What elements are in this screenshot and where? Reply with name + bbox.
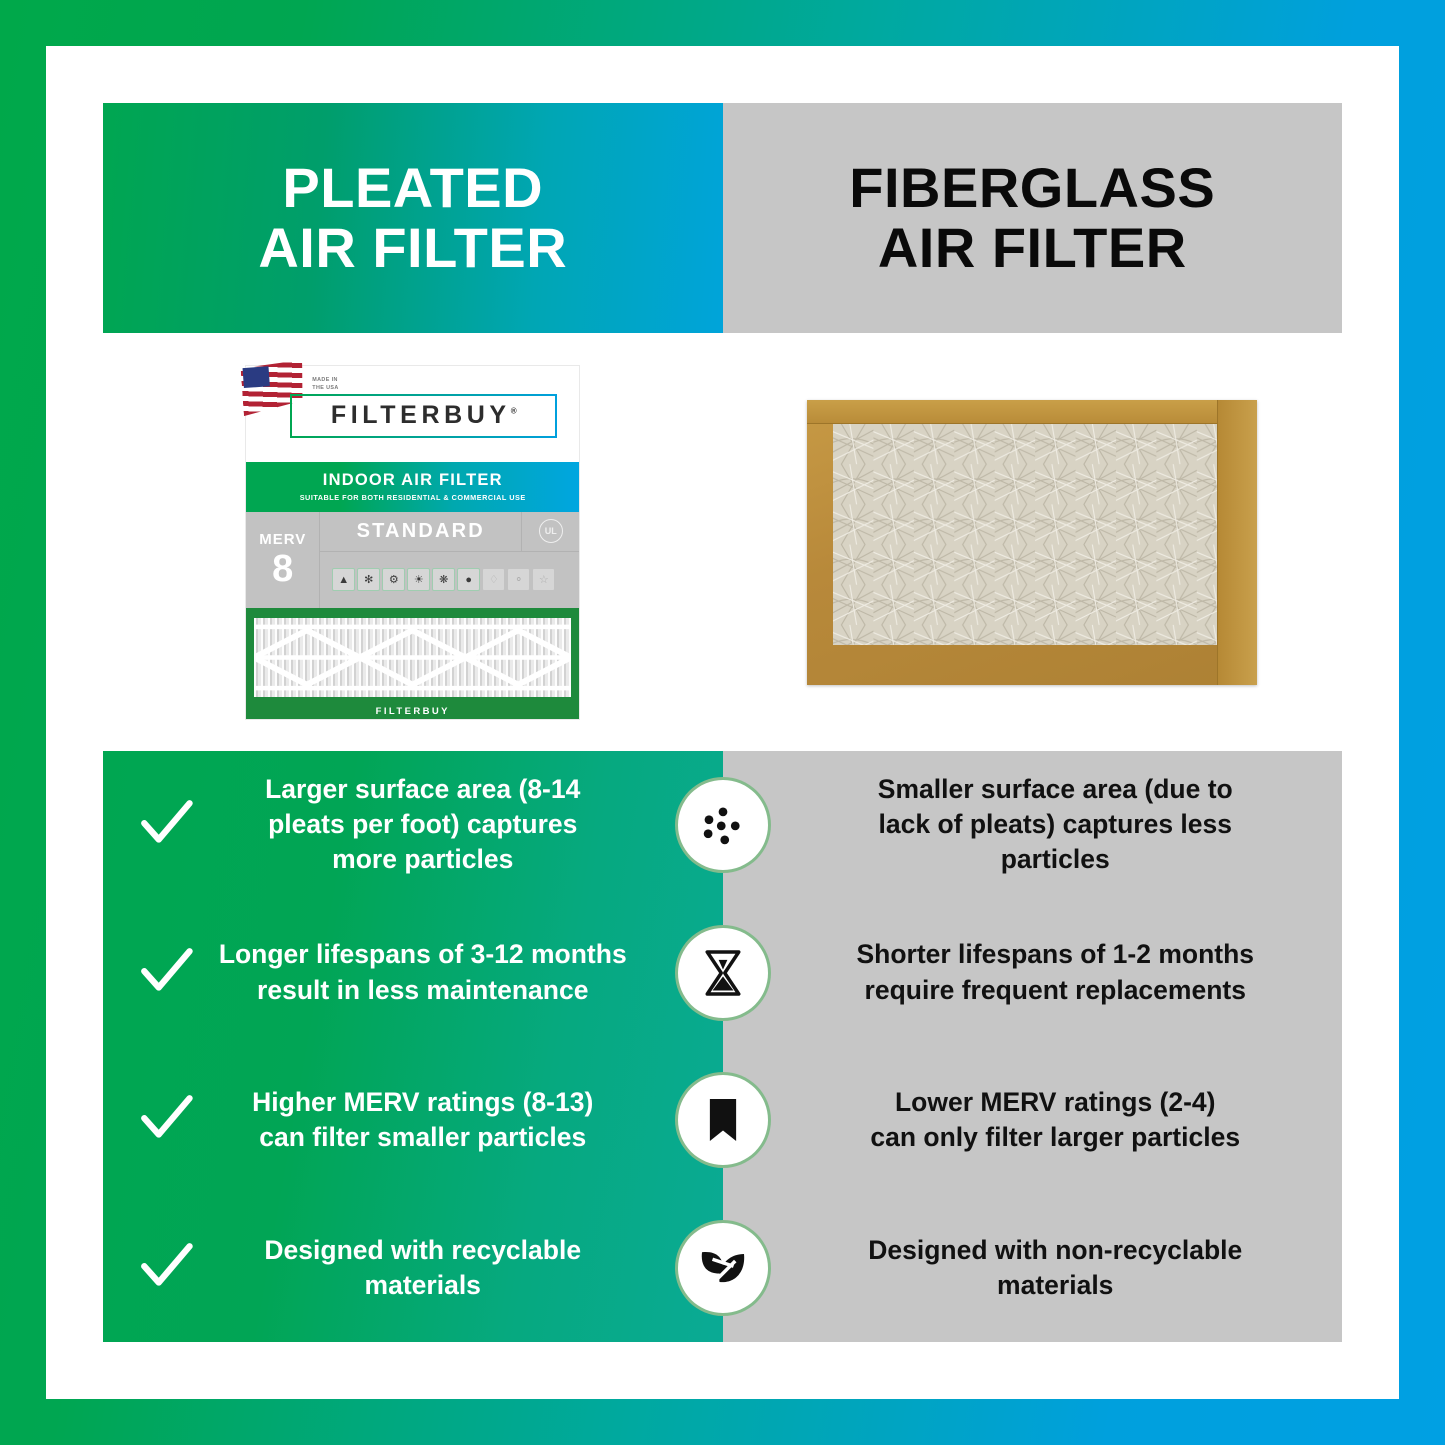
box-spec-right: STANDARD UL ▲ ✻ ⚙ ☀ bbox=[320, 512, 579, 608]
comparison-row: Larger surface area (8-14 pleats per foo… bbox=[103, 751, 1342, 899]
hourglass-svg bbox=[695, 945, 751, 1001]
mold-spore-icon: ❋ bbox=[432, 568, 455, 591]
pleat-texture bbox=[254, 618, 571, 697]
brand-logo-frame: FILTERBUY® bbox=[290, 394, 557, 438]
frame-top-lip bbox=[807, 400, 1257, 424]
checkmark-icon bbox=[137, 944, 195, 1002]
header-pleated: PLEATED AIR FILTER bbox=[103, 103, 723, 333]
comparison-row: Longer lifespans of 3-12 months result i… bbox=[103, 899, 1342, 1047]
merv-label: MERV bbox=[259, 531, 306, 548]
white-canvas: PLEATED AIR FILTER FIBERGLASS AIR FILTER… bbox=[46, 46, 1399, 1399]
checkmark-icon bbox=[137, 796, 195, 854]
merv-block: MERV 8 bbox=[246, 512, 320, 608]
comparison-section: Larger surface area (8-14 pleats per foo… bbox=[103, 751, 1342, 1342]
box-feature-icon-strip: ▲ ✻ ⚙ ☀ ❋ ● ♢ ⚬ ☆ bbox=[320, 552, 579, 608]
row-right-text: Lower MERV ratings (2-4) can only filter… bbox=[809, 1085, 1303, 1155]
box-band-title: INDOOR AIR FILTER bbox=[323, 471, 503, 490]
checkmark-svg bbox=[137, 1091, 195, 1149]
odor-icon: ☆ bbox=[532, 568, 555, 591]
brand-logo-text: FILTERBUY® bbox=[331, 401, 517, 430]
row-left-cell: Larger surface area (8-14 pleats per foo… bbox=[103, 772, 723, 878]
row-left-text: Longer lifespans of 3-12 months result i… bbox=[209, 937, 637, 1007]
insect-icon: ✻ bbox=[357, 568, 380, 591]
merv-value: 8 bbox=[272, 550, 293, 588]
bookmark-icon bbox=[675, 1072, 771, 1168]
pollen-icon: ☀ bbox=[407, 568, 430, 591]
checkmark-svg bbox=[137, 1239, 195, 1297]
made-in-usa-label: MADE IN THE USA bbox=[312, 376, 338, 392]
bookmark-svg bbox=[695, 1092, 751, 1148]
box-filter-artwork: FILTERBUY bbox=[246, 608, 579, 719]
box-grade-label: STANDARD bbox=[320, 512, 521, 551]
box-band-subtitle: SUITABLE FOR BOTH RESIDENTIAL & COMMERCI… bbox=[300, 493, 526, 502]
hourglass-icon bbox=[675, 925, 771, 1021]
leaf-icon bbox=[675, 1220, 771, 1316]
brand-tm: ® bbox=[511, 407, 517, 416]
fiberglass-mesh bbox=[833, 424, 1217, 645]
row-left-cell: Longer lifespans of 3-12 months result i… bbox=[103, 937, 723, 1007]
header-row: PLEATED AIR FILTER FIBERGLASS AIR FILTER bbox=[103, 103, 1342, 333]
row-left-cell: Designed with recyclable materials bbox=[103, 1233, 723, 1303]
particles-icon bbox=[675, 777, 771, 873]
outer-gradient-frame: PLEATED AIR FILTER FIBERGLASS AIR FILTER… bbox=[0, 0, 1445, 1445]
product-image-row: MADE IN THE USA FILTERBUY® INDOOR AIR FI… bbox=[103, 333, 1342, 751]
filter-support-grid bbox=[254, 618, 571, 697]
checkmark-icon bbox=[137, 1091, 195, 1149]
row-right-cell: Lower MERV ratings (2-4) can only filter… bbox=[723, 1085, 1343, 1155]
box-band: INDOOR AIR FILTER SUITABLE FOR BOTH RESI… bbox=[246, 462, 579, 512]
row-right-cell: Shorter lifespans of 1-2 months require … bbox=[723, 937, 1343, 1007]
particles-svg bbox=[695, 797, 751, 853]
checkmark-svg bbox=[137, 796, 195, 854]
box-grade-row: STANDARD UL bbox=[320, 512, 579, 552]
virus-icon: ⚙ bbox=[382, 568, 405, 591]
pet-dander-icon: ● bbox=[457, 568, 480, 591]
checkmark-icon bbox=[137, 1239, 195, 1297]
fiberglass-filter-image bbox=[807, 400, 1257, 685]
row-left-text: Larger surface area (8-14 pleats per foo… bbox=[209, 772, 637, 878]
pleated-product-cell: MADE IN THE USA FILTERBUY® INDOOR AIR FI… bbox=[103, 333, 723, 751]
row-right-cell: Smaller surface area (due to lack of ple… bbox=[723, 772, 1343, 878]
comparison-row: Higher MERV ratings (8-13) can filter sm… bbox=[103, 1047, 1342, 1195]
leaf-svg bbox=[695, 1240, 751, 1296]
box-spec-section: MERV 8 STANDARD UL bbox=[246, 512, 579, 608]
fiberglass-product-cell bbox=[723, 333, 1343, 751]
header-fiberglass: FIBERGLASS AIR FILTER bbox=[723, 103, 1343, 333]
comparison-row: Designed with recyclable materials D bbox=[103, 1194, 1342, 1342]
frame-right-lip bbox=[1217, 400, 1257, 685]
ul-circle-icon: UL bbox=[539, 519, 563, 543]
filterbuy-box-image: MADE IN THE USA FILTERBUY® INDOOR AIR FI… bbox=[246, 366, 579, 719]
header-fiberglass-title: FIBERGLASS AIR FILTER bbox=[849, 158, 1215, 279]
row-left-cell: Higher MERV ratings (8-13) can filter sm… bbox=[103, 1085, 723, 1155]
bacteria-icon: ⚬ bbox=[507, 568, 530, 591]
ul-certification-mark: UL bbox=[521, 512, 579, 551]
support-grid-svg bbox=[254, 618, 571, 697]
box-footer-brand: FILTERBUY bbox=[246, 706, 579, 717]
box-top-section: MADE IN THE USA FILTERBUY® bbox=[246, 366, 579, 462]
comparison-board: PLEATED AIR FILTER FIBERGLASS AIR FILTER… bbox=[103, 103, 1342, 1342]
checkmark-svg bbox=[137, 944, 195, 1002]
row-right-text: Shorter lifespans of 1-2 months require … bbox=[809, 937, 1303, 1007]
brand-name: FILTERBUY bbox=[331, 401, 511, 429]
comparison-rows: Larger surface area (8-14 pleats per foo… bbox=[103, 751, 1342, 1342]
row-left-text: Designed with recyclable materials bbox=[209, 1233, 637, 1303]
smoke-icon: ♢ bbox=[482, 568, 505, 591]
row-right-text: Smaller surface area (due to lack of ple… bbox=[809, 772, 1303, 878]
header-pleated-title: PLEATED AIR FILTER bbox=[258, 158, 567, 279]
fiberglass-texture-svg bbox=[833, 424, 1217, 645]
vacuum-dust-icon: ▲ bbox=[332, 568, 355, 591]
row-left-text: Higher MERV ratings (8-13) can filter sm… bbox=[209, 1085, 637, 1155]
row-right-text: Designed with non-recyclable materials bbox=[809, 1233, 1303, 1303]
row-right-cell: Designed with non-recyclable materials bbox=[723, 1233, 1343, 1303]
